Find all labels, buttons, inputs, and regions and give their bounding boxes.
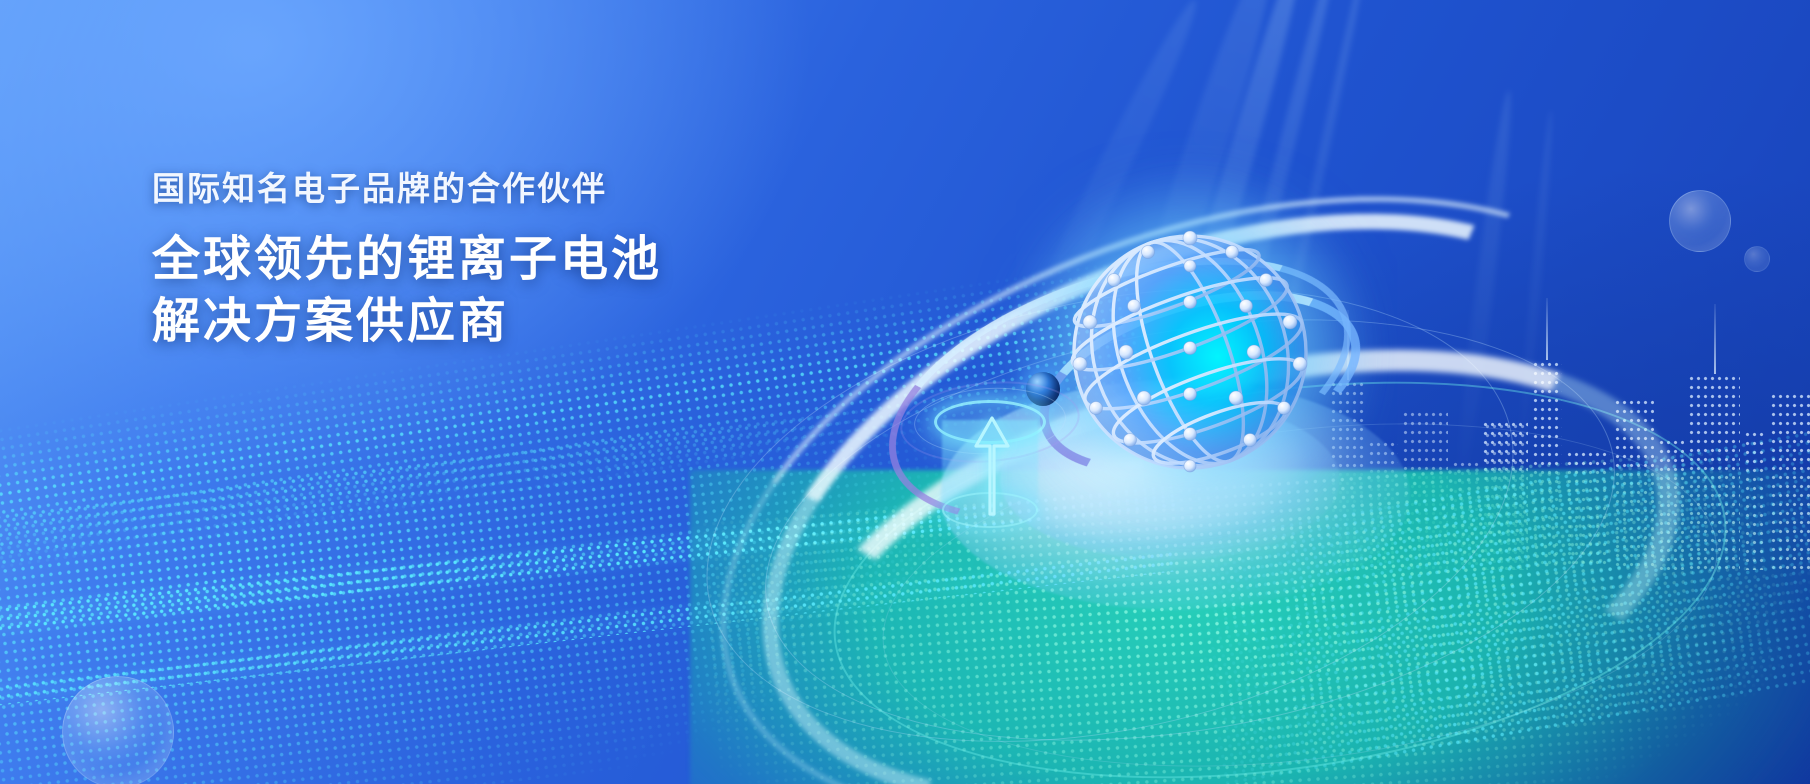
swoosh-band-main bbox=[676, 97, 1724, 784]
swoosh-band-thin bbox=[634, 76, 1765, 784]
bubble-bottom-left bbox=[62, 676, 174, 784]
hero-banner: 国际知名电子品牌的合作伙伴 全球领先的锂离子电池 解决方案供应商 bbox=[0, 0, 1810, 784]
banner-headline: 全球领先的锂离子电池 解决方案供应商 bbox=[152, 229, 662, 352]
dot-wave-green bbox=[700, 439, 1810, 784]
dot-wave-crest-2 bbox=[0, 550, 1175, 712]
outer-ring-4 bbox=[863, 380, 1737, 784]
dot-wave-main bbox=[0, 364, 1251, 784]
dot-wave-crest bbox=[0, 482, 1176, 637]
headline-line-1: 全球领先的锂离子电池 bbox=[152, 229, 662, 290]
wireframe-globe bbox=[1060, 222, 1320, 482]
outer-ring-1 bbox=[664, 219, 1555, 784]
light-rays bbox=[0, 0, 1810, 784]
dot-wave-right bbox=[1180, 422, 1810, 784]
bubble-top-right bbox=[1669, 190, 1731, 252]
swoosh-band-lower bbox=[751, 268, 1728, 784]
orbit-node bbox=[1026, 372, 1060, 406]
city-skyline-far bbox=[1330, 300, 1530, 570]
banner-copy: 国际知名电子品牌的合作伙伴 全球领先的锂离子电池 解决方案供应商 bbox=[152, 168, 662, 352]
platform-disc-glow bbox=[940, 380, 1410, 610]
upward-arrow-pedestal bbox=[920, 388, 1070, 538]
headline-line-2: 解决方案供应商 bbox=[152, 291, 662, 352]
banner-eyebrow: 国际知名电子品牌的合作伙伴 bbox=[152, 168, 662, 209]
bubble-small bbox=[1744, 246, 1770, 272]
city-skyline bbox=[1480, 270, 1810, 570]
teal-ground bbox=[690, 470, 1810, 784]
outer-ring-3 bbox=[808, 329, 1752, 784]
platform-disc bbox=[1000, 400, 1340, 560]
outer-ring-2 bbox=[732, 258, 1648, 784]
orbit-ring-outer bbox=[856, 206, 1384, 573]
orbit-ring-inner bbox=[1019, 258, 1382, 508]
